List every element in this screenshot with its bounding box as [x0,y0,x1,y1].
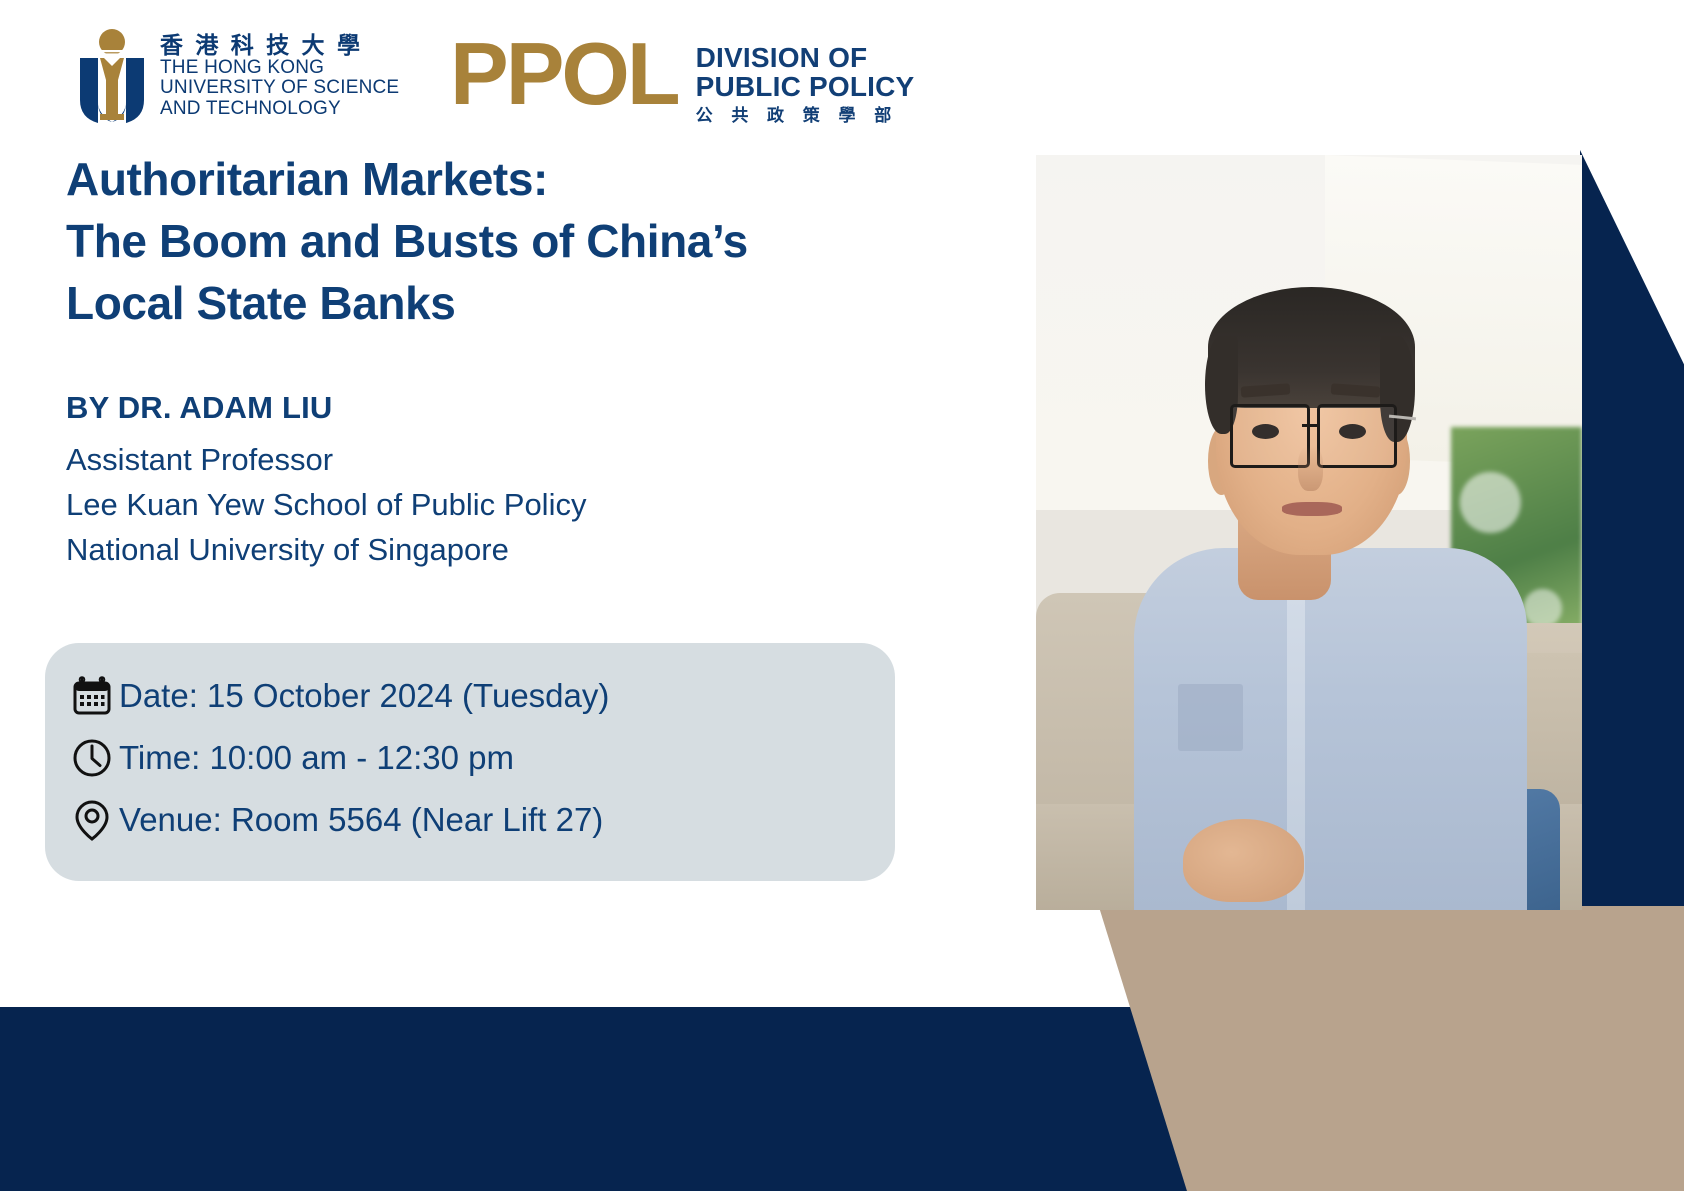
clock-icon [65,731,119,785]
ppol-wordmark: PPOL [450,34,678,115]
page-title: Authoritarian Markets: The Boom and Bust… [66,148,886,334]
detail-text-time: Time: 10:00 am - 12:30 pm [119,739,514,777]
photo-shirt-pocket [1178,684,1244,752]
calendar-icon [65,669,119,723]
title-line-2: The Boom and Busts of China’s [66,210,886,272]
photo-nose [1298,446,1323,491]
photo-clasped-hands [1183,819,1303,902]
detail-text-date: Date: 15 October 2024 (Tuesday) [119,677,609,715]
hkust-line-1: THE HONG KONG [160,58,399,79]
speaker-role: Assistant Professor [66,438,846,483]
ppol-line-1: DIVISION OF [696,43,915,72]
speaker-byline: BY DR. ADAM LIU [66,390,846,426]
event-details-card: Date: 15 October 2024 (Tuesday) Time: 10… [45,643,895,881]
hkust-line-3: AND TECHNOLOGY [160,99,399,120]
detail-row-time: Time: 10:00 am - 12:30 pm [45,727,895,789]
ppol-line-2: PUBLIC POLICY [696,72,915,101]
photo-glasses-lens-right [1317,404,1397,467]
location-pin-icon [65,793,119,847]
photo-mouth [1282,502,1342,516]
detail-row-date: Date: 15 October 2024 (Tuesday) [45,665,895,727]
speaker-school: Lee Kuan Yew School of Public Policy [66,483,846,528]
ppol-chinese-name: 公 共 政 策 學 部 [696,107,915,125]
speaker-university: National University of Singapore [66,528,846,573]
hkust-logo: 香 港 科 技 大 學 THE HONG KONG UNIVERSITY OF … [78,28,399,124]
hkust-shield-icon [78,28,146,124]
hkust-wordmark: 香 港 科 技 大 學 THE HONG KONG UNIVERSITY OF … [160,33,399,119]
speaker-photo [1036,155,1582,910]
ppol-logo: PPOL DIVISION OF PUBLIC POLICY 公 共 政 策 學… [450,34,914,125]
ppol-subtitle: DIVISION OF PUBLIC POLICY 公 共 政 策 學 部 [696,34,915,125]
hkust-line-2: UNIVERSITY OF SCIENCE [160,78,399,99]
title-line-3: Local State Banks [66,272,886,334]
title-line-1: Authoritarian Markets: [66,148,886,210]
detail-row-venue: Venue: Room 5564 (Near Lift 27) [45,789,895,851]
photo-glasses-bridge [1302,424,1318,427]
detail-text-venue: Venue: Room 5564 (Near Lift 27) [119,801,603,839]
event-poster: 香 港 科 技 大 學 THE HONG KONG UNIVERSITY OF … [0,0,1684,1191]
speaker-block: BY DR. ADAM LIU Assistant Professor Lee … [66,390,846,573]
hkust-chinese-name: 香 港 科 技 大 學 [160,33,399,58]
